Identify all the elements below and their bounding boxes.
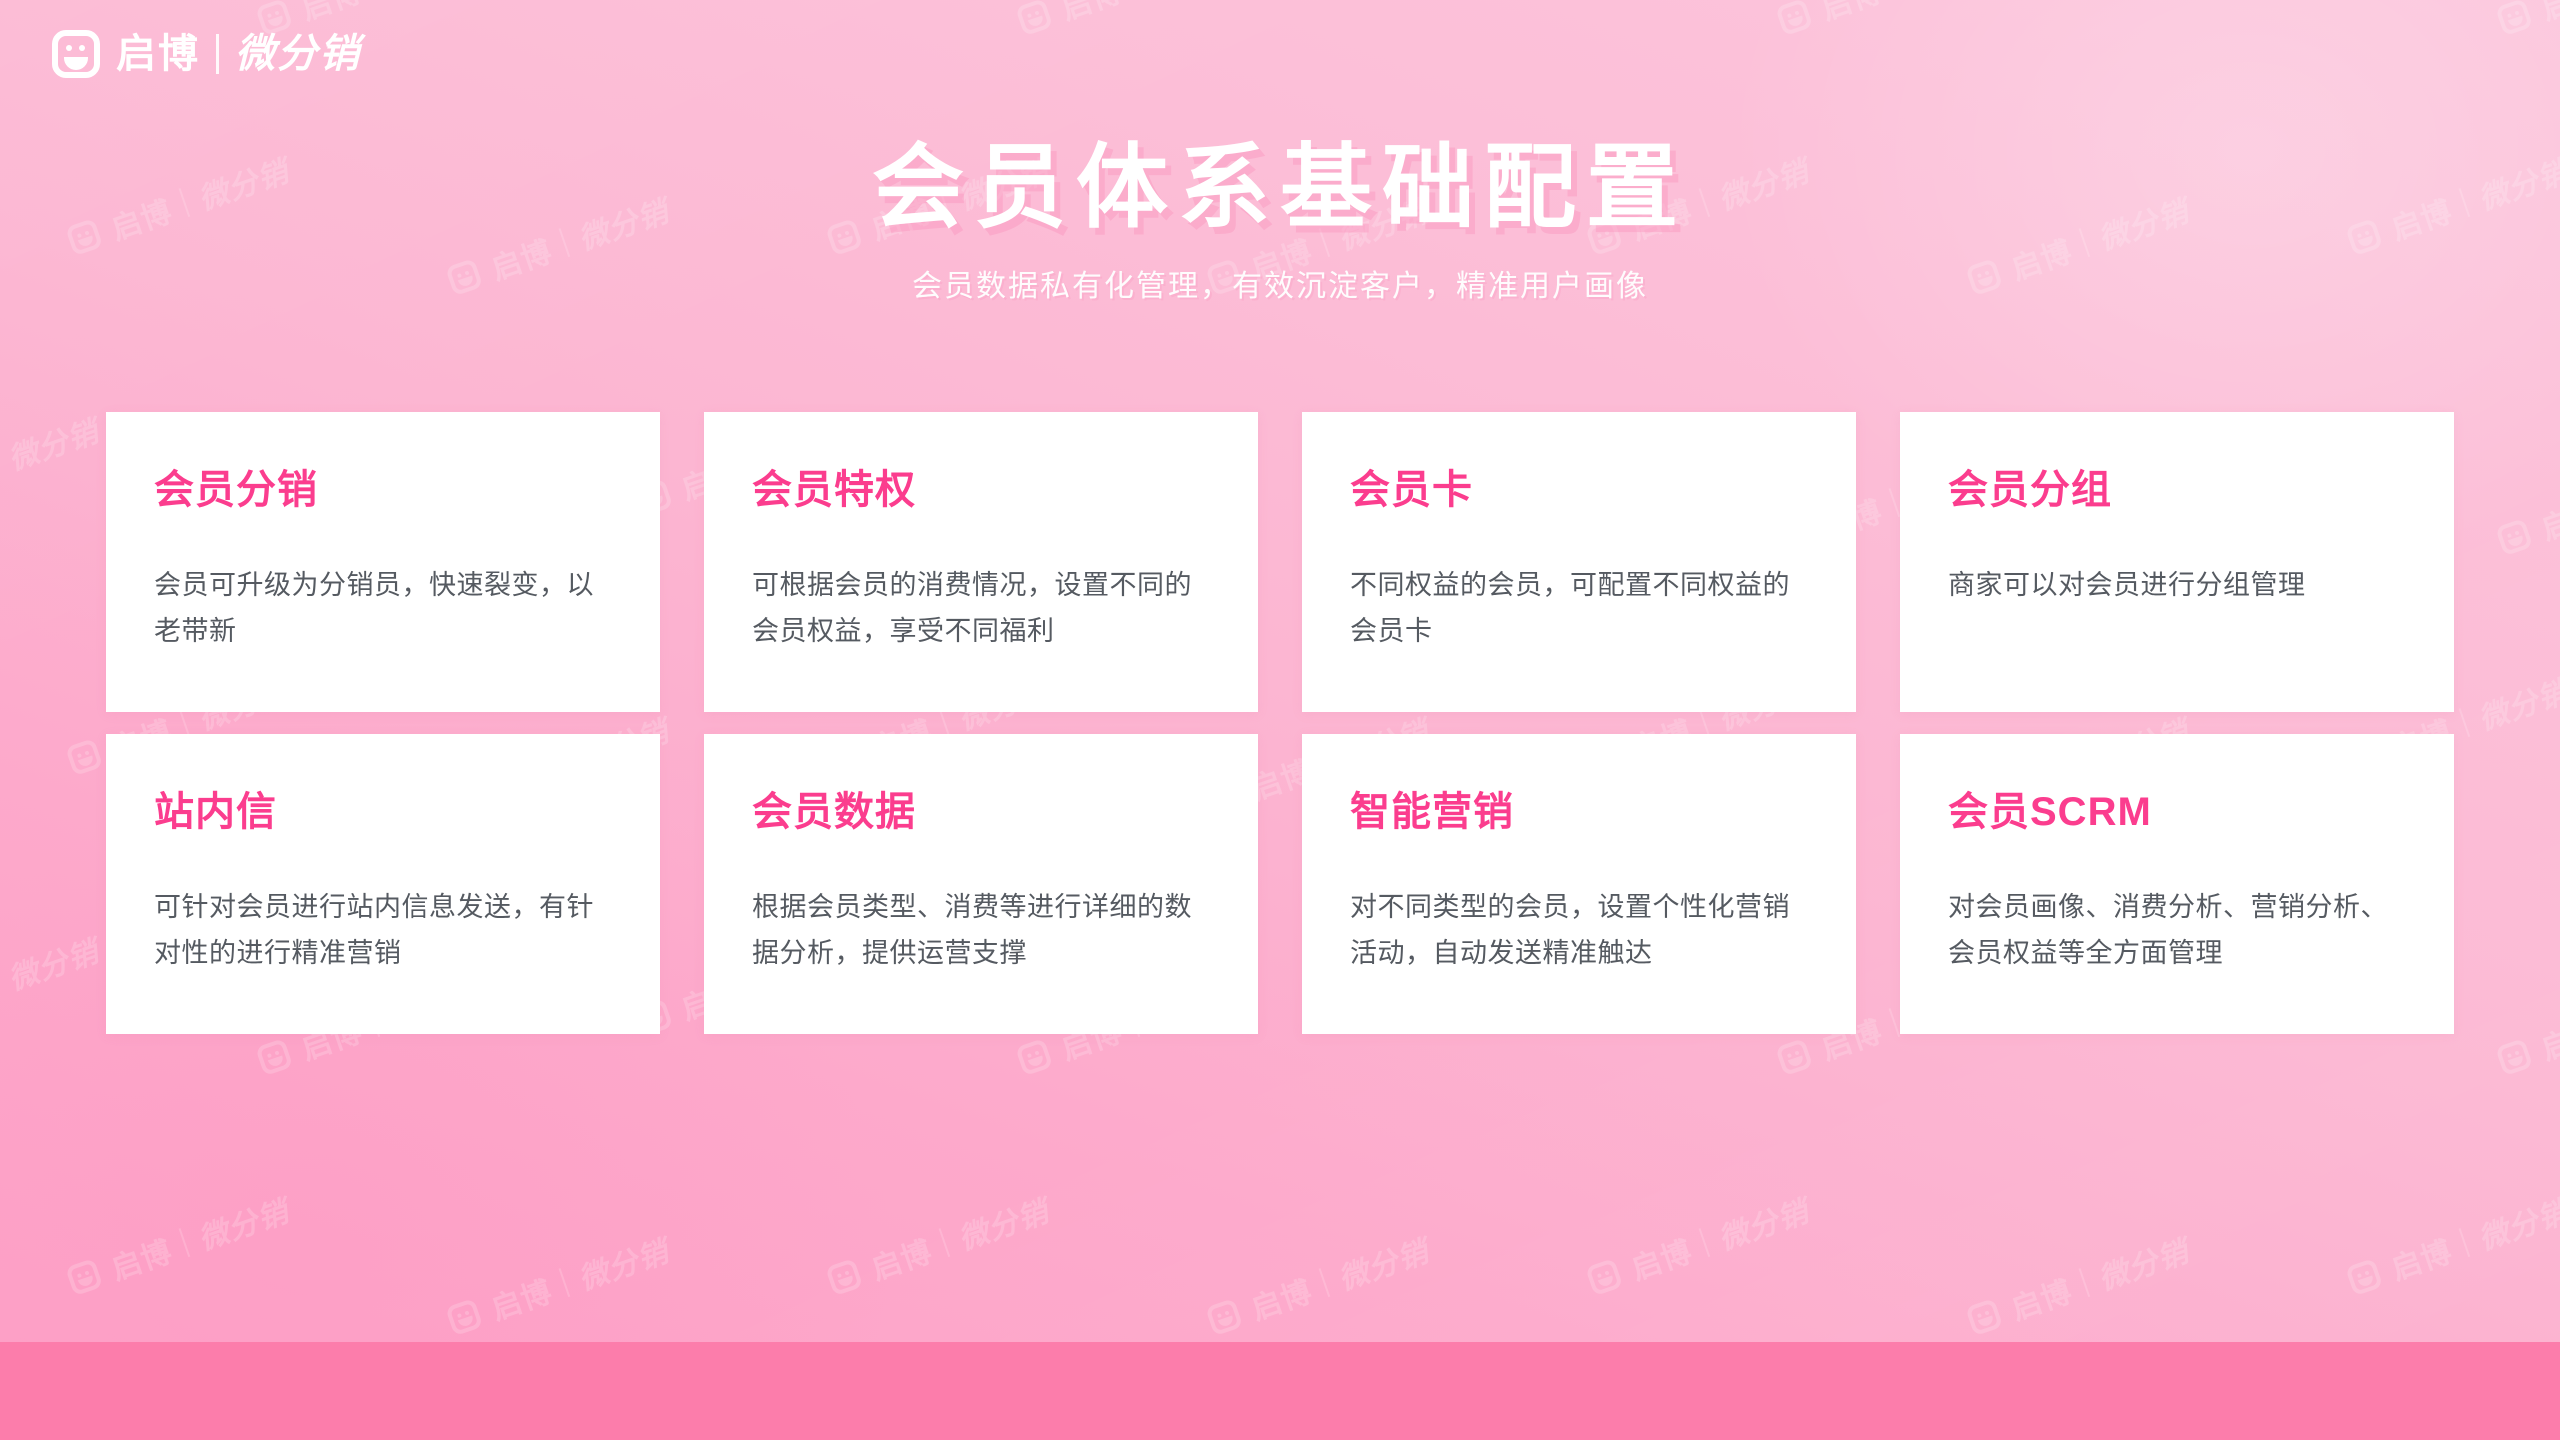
watermark-logo: 启博微分销 [1963,1227,2194,1343]
watermark-logo: 启博微分销 [2493,0,2560,43]
watermark-brand-product: 微分销 [1711,1187,1813,1259]
brand-name: 启博 [116,34,200,74]
feature-card-description: 不同权益的会员，可配置不同权益的会员卡 [1350,562,1808,655]
feature-card[interactable]: 站内信可针对会员进行站内信息发送，有针对性的进行精准营销 [106,734,660,1034]
smiley-rounded-square-icon [2495,0,2533,36]
feature-card-title: 会员卡 [1350,468,1808,512]
watermark-brand-name: 启博 [2004,1267,2077,1329]
watermark-brand-name: 启博 [104,1227,177,1289]
watermark-divider [179,1228,191,1257]
watermark-brand-product: 微分销 [1331,1227,1433,1299]
watermark-logo: 启博微分销 [1773,0,2004,43]
feature-card[interactable]: 会员卡不同权益的会员，可配置不同权益的会员卡 [1302,412,1856,712]
feature-card-description: 会员可升级为分销员，快速裂变，以老带新 [154,562,612,655]
brand-divider [216,34,219,74]
watermark-brand-name: 启博 [2534,0,2560,28]
feature-card-description: 对会员画像、消费分析、营销分析、会员权益等全方面管理 [1948,884,2406,977]
watermark-logo: 启博微分销 [2493,447,2560,563]
feature-card-description: 对不同类型的会员，设置个性化营销活动，自动发送精准触达 [1350,884,1808,977]
watermark-logo: 启博微分销 [0,927,104,1043]
smiley-rounded-square-icon [1015,1038,1053,1076]
watermark-logo: 启博微分销 [63,1187,294,1303]
watermark-brand-name: 启博 [1814,0,1887,28]
watermark-logo: 启博微分销 [823,1187,1054,1303]
brand-logo: 启博 微分销 [52,30,361,78]
watermark-logo: 启博微分销 [1393,0,1624,3]
watermark-divider [2459,1228,2471,1257]
watermark-logo: 启博微分销 [633,0,864,3]
smiley-rounded-square-icon [1775,1038,1813,1076]
page-header: 会员体系基础配置 会员数据私有化管理，有效沉淀客户，精准用户画像 [0,140,2560,305]
smiley-rounded-square-icon [65,1258,103,1296]
smiley-rounded-square-icon [825,1258,863,1296]
watermark-logo: 启博微分销 [1583,1187,1814,1303]
watermark-divider [1699,1228,1711,1257]
watermark-brand-product: 微分销 [2471,1187,2560,1259]
watermark-brand-product: 微分销 [571,1227,673,1299]
smiley-rounded-square-icon [1775,0,1813,36]
feature-card-description: 可根据会员的消费情况，设置不同的会员权益，享受不同福利 [752,562,1210,655]
feature-card[interactable]: 会员特权可根据会员的消费情况，设置不同的会员权益，享受不同福利 [704,412,1258,712]
watermark-brand-product: 微分销 [191,1187,293,1259]
watermark-brand-product: 微分销 [2091,1227,2193,1299]
feature-card-title: 站内信 [154,790,612,834]
watermark-brand-name: 启博 [2384,1227,2457,1289]
page-subtitle: 会员数据私有化管理，有效沉淀客户，精准用户画像 [0,261,2560,305]
smiley-rounded-square-icon [1585,1258,1623,1296]
feature-card-title: 会员分组 [1948,468,2406,512]
watermark-divider [2459,708,2471,737]
page-title: 会员体系基础配置 [0,140,2560,237]
watermark-brand-name: 启博 [864,1227,937,1289]
feature-card-title: 智能营销 [1350,790,1808,834]
feature-card[interactable]: 会员数据根据会员类型、消费等进行详细的数据分析，提供运营支撑 [704,734,1258,1034]
smiley-rounded-square-icon [1205,1298,1243,1336]
watermark-brand-name: 启博 [484,1267,557,1329]
smiley-rounded-square-icon [65,738,103,776]
watermark-brand-name: 启博 [2534,1007,2560,1069]
watermark-brand-name: 启博 [1624,1227,1697,1289]
feature-card[interactable]: 会员分销会员可升级为分销员，快速裂变，以老带新 [106,412,660,712]
smiley-rounded-square-icon [255,1038,293,1076]
smiley-rounded-square-icon [445,1298,483,1336]
smiley-rounded-square-icon [52,30,100,78]
smiley-rounded-square-icon [2345,1258,2383,1296]
watermark-brand-name: 启博 [1244,1267,1317,1329]
watermark-logo: 启博微分销 [443,1227,674,1343]
watermark-logo: 启博微分销 [1013,0,1244,43]
feature-card-description: 可针对会员进行站内信息发送，有针对性的进行精准营销 [154,884,612,977]
feature-card-title: 会员分销 [154,468,612,512]
watermark-brand-name: 启博 [2534,487,2560,549]
watermark-brand-product: 微分销 [1,927,103,999]
feature-card[interactable]: 会员分组商家可以对会员进行分组管理 [1900,412,2454,712]
page-background: 启博微分销启博微分销启博微分销启博微分销启博微分销启博微分销启博微分销启博微分销… [0,0,2560,1440]
smiley-rounded-square-icon [1965,1298,2003,1336]
watermark-brand-product: 微分销 [1,407,103,479]
watermark-divider [2079,1268,2091,1297]
feature-card-description: 根据会员类型、消费等进行详细的数据分析，提供运营支撑 [752,884,1210,977]
watermark-divider [559,1268,571,1297]
watermark-brand-product: 微分销 [951,1187,1053,1259]
watermark-logo: 启博微分销 [2153,0,2384,3]
feature-card-description: 商家可以对会员进行分组管理 [1948,562,2406,608]
smiley-rounded-square-icon [1015,0,1053,36]
watermark-logo: 启博微分销 [2343,1187,2560,1303]
watermark-logo: 启博微分销 [0,0,104,3]
brand-product: 微分销 [235,34,361,74]
watermark-brand-name: 启博 [294,0,367,28]
smiley-rounded-square-icon [2495,518,2533,556]
feature-card-grid: 会员分销会员可升级为分销员，快速裂变，以老带新会员特权可根据会员的消费情况，设置… [106,412,2454,1034]
feature-card-title: 会员数据 [752,790,1210,834]
feature-card[interactable]: 智能营销对不同类型的会员，设置个性化营销活动，自动发送精准触达 [1302,734,1856,1034]
watermark-divider [939,1228,951,1257]
watermark-brand-name: 启博 [1054,0,1127,28]
feature-card-title: 会员SCRM [1948,790,2406,834]
feature-card-title: 会员特权 [752,468,1210,512]
watermark-logo: 启博微分销 [0,407,104,523]
smiley-rounded-square-icon [2495,1038,2533,1076]
watermark-divider [1319,1268,1331,1297]
bottom-bar [0,1342,2560,1440]
watermark-logo: 启博微分销 [1203,1227,1434,1343]
watermark-brand-product: 微分销 [2471,667,2560,739]
watermark-logo: 启博微分销 [2493,967,2560,1083]
feature-card[interactable]: 会员SCRM对会员画像、消费分析、营销分析、会员权益等全方面管理 [1900,734,2454,1034]
